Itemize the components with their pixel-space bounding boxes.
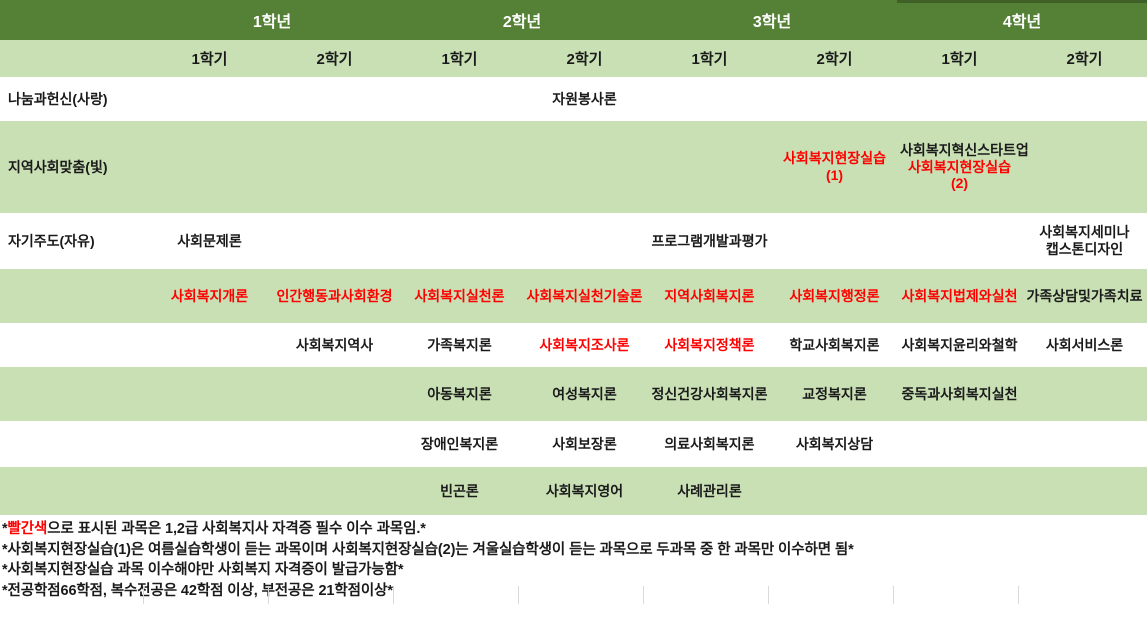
year-header-row: 1학년 2학년 3학년 4학년: [0, 0, 1147, 40]
course-name: 사회보장론: [525, 436, 644, 453]
course-name: 학교사회복지론: [775, 337, 894, 354]
course-cell: [1022, 467, 1147, 515]
row-label: [0, 269, 147, 323]
course-cell: [272, 367, 397, 421]
course-cell[interactable]: 사회복지정책론: [647, 323, 772, 367]
course-cell[interactable]: 사회복지세미나캡스톤디자인: [1022, 213, 1147, 269]
course-cell: [397, 121, 522, 213]
year-header-1: 1학년: [147, 0, 397, 40]
semester-corner-cell: [0, 40, 147, 77]
course-name: 빈곤론: [400, 483, 519, 500]
table-header: 1학년 2학년 3학년 4학년 1학기 2학기 1학기 2학기 1학기 2학기 …: [0, 0, 1147, 77]
course-cell[interactable]: 사회보장론: [522, 421, 647, 467]
course-name: 사회서비스론: [1025, 337, 1144, 354]
table-row: 장애인복지론사회보장론의료사회복지론사회복지상담: [0, 421, 1147, 467]
row-label: 자기주도(자유): [0, 213, 147, 269]
course-cell[interactable]: 가족복지론: [397, 323, 522, 367]
semester-header-2: 2학기: [272, 40, 397, 77]
semester-header-row: 1학기 2학기 1학기 2학기 1학기 2학기 1학기 2학기: [0, 40, 1147, 77]
course-name: 사회복지개론: [150, 288, 269, 305]
course-name: 사회복지세미나: [1025, 224, 1144, 241]
row-label: [0, 467, 147, 515]
course-cell: [1022, 77, 1147, 121]
course-cell: [897, 467, 1022, 515]
note-line-3: *사회복지현장실습 과목 이수해야만 사회복지 자격증이 발급가능함*: [2, 560, 1147, 581]
course-cell[interactable]: 정신건강사회복지론: [647, 367, 772, 421]
course-name: 자원봉사론: [525, 91, 644, 108]
row-label: [0, 367, 147, 421]
row-label: 나눔과헌신(사랑): [0, 77, 147, 121]
course-cell: [1022, 421, 1147, 467]
semester-header-6: 2학기: [772, 40, 897, 77]
course-cell: [772, 213, 897, 269]
course-name: 사회복지행정론: [775, 288, 894, 305]
course-name: 사회문제론: [150, 233, 269, 250]
semester-header-5: 1학기: [647, 40, 772, 77]
course-name: 캡스톤디자인: [1025, 241, 1144, 258]
note-1-highlight: 빨간색: [8, 521, 48, 537]
course-cell: [397, 213, 522, 269]
course-cell: [522, 213, 647, 269]
course-name: 사회복지실천기술론: [525, 288, 644, 305]
row-label: 지역사회맞춤(빛): [0, 121, 147, 213]
course-cell: [147, 77, 272, 121]
course-name: 아동복지론: [400, 386, 519, 403]
row-label: [0, 421, 147, 467]
course-cell[interactable]: 장애인복지론: [397, 421, 522, 467]
semester-header-8: 2학기: [1022, 40, 1147, 77]
course-cell: [147, 323, 272, 367]
course-cell: [1022, 367, 1147, 421]
course-cell: [897, 421, 1022, 467]
course-cell[interactable]: 사회복지역사: [272, 323, 397, 367]
notes-block: *빨간색으로 표시된 과목은 1,2급 사회복지사 자격증 필수 이수 과목임.…: [0, 515, 1147, 601]
course-name: 프로그램개발과평가: [650, 233, 769, 250]
course-name: 정신건강사회복지론: [650, 386, 769, 403]
course-cell: [397, 77, 522, 121]
course-name: 장애인복지론: [400, 436, 519, 453]
course-cell[interactable]: 사회복지법제와실천: [897, 269, 1022, 323]
table-row: 빈곤론사회복지영어사례관리론: [0, 467, 1147, 515]
course-name: 지역사회복지론: [650, 288, 769, 305]
course-cell: [147, 467, 272, 515]
course-cell: [772, 467, 897, 515]
course-cell[interactable]: 사례관리론: [647, 467, 772, 515]
table-body: 나눔과헌신(사랑)자원봉사론지역사회맞춤(빛)사회복지현장실습(1)사회복지혁신…: [0, 77, 1147, 515]
year-header-2: 2학년: [397, 0, 647, 40]
course-cell[interactable]: 프로그램개발과평가: [647, 213, 772, 269]
course-cell: [272, 213, 397, 269]
course-cell[interactable]: 인간행동과사회환경: [272, 269, 397, 323]
course-cell[interactable]: 사회복지실천론: [397, 269, 522, 323]
note-line-4: *전공학점66학점, 복수전공은 42학점 이상, 부전공은 21학점이상*: [2, 581, 1147, 602]
table-row: 사회복지개론인간행동과사회환경사회복지실천론사회복지실천기술론지역사회복지론사회…: [0, 269, 1147, 323]
semester-header-7: 1학기: [897, 40, 1022, 77]
course-cell: [147, 121, 272, 213]
course-cell[interactable]: 아동복지론: [397, 367, 522, 421]
course-cell: [647, 77, 772, 121]
course-name: 사회복지혁신스타트업: [900, 142, 1019, 159]
course-cell[interactable]: 사회복지현장실습(1): [772, 121, 897, 213]
course-cell: [522, 121, 647, 213]
course-cell[interactable]: 중독과사회복지실천: [897, 367, 1022, 421]
course-cell: [897, 213, 1022, 269]
course-cell[interactable]: 사회복지실천기술론: [522, 269, 647, 323]
course-cell[interactable]: 지역사회복지론: [647, 269, 772, 323]
curriculum-sheet: 1학년 2학년 3학년 4학년 1학기 2학기 1학기 2학기 1학기 2학기 …: [0, 0, 1147, 619]
course-name: 의료사회복지론: [650, 436, 769, 453]
course-cell[interactable]: 교정복지론: [772, 367, 897, 421]
semester-header-3: 1학기: [397, 40, 522, 77]
note-line-2: *사회복지현장실습(1)은 여름실습학생이 듣는 과목이며 사회복지현장실습(2…: [2, 540, 1147, 561]
course-name: 가족상담및가족치료: [1025, 288, 1144, 305]
course-name: 인간행동과사회환경: [275, 288, 394, 305]
course-cell: [272, 77, 397, 121]
row-label: [0, 323, 147, 367]
course-cell: [147, 367, 272, 421]
course-cell: [272, 467, 397, 515]
course-cell: [897, 77, 1022, 121]
table-row: 지역사회맞춤(빛)사회복지현장실습(1)사회복지혁신스타트업사회복지현장실습(2…: [0, 121, 1147, 213]
course-cell[interactable]: 사회복지개론: [147, 269, 272, 323]
table-row: 사회복지역사가족복지론사회복지조사론사회복지정책론학교사회복지론사회복지윤리와철…: [0, 323, 1147, 367]
table-row: 나눔과헌신(사랑)자원봉사론: [0, 77, 1147, 121]
course-cell[interactable]: 사회복지조사론: [522, 323, 647, 367]
course-name: 사회복지현장실습(1): [775, 150, 894, 183]
course-cell: [272, 421, 397, 467]
course-cell[interactable]: 자원봉사론: [522, 77, 647, 121]
curriculum-table: 1학년 2학년 3학년 4학년 1학기 2학기 1학기 2학기 1학기 2학기 …: [0, 0, 1147, 515]
course-cell[interactable]: 학교사회복지론: [772, 323, 897, 367]
course-cell[interactable]: 사회복지혁신스타트업사회복지현장실습(2): [897, 121, 1022, 213]
course-cell: [647, 121, 772, 213]
corner-cell: [0, 0, 147, 40]
course-cell[interactable]: 사회문제론: [147, 213, 272, 269]
course-name: 사회복지실천론: [400, 288, 519, 305]
course-cell[interactable]: 사회복지행정론: [772, 269, 897, 323]
year-header-4: 4학년: [897, 0, 1147, 40]
course-cell[interactable]: 빈곤론: [397, 467, 522, 515]
course-cell[interactable]: 의료사회복지론: [647, 421, 772, 467]
table-row: 자기주도(자유)사회문제론프로그램개발과평가사회복지세미나캡스톤디자인: [0, 213, 1147, 269]
semester-header-4: 2학기: [522, 40, 647, 77]
table-row: 아동복지론여성복지론정신건강사회복지론교정복지론중독과사회복지실천: [0, 367, 1147, 421]
course-name: 여성복지론: [525, 386, 644, 403]
course-name: 사례관리론: [650, 483, 769, 500]
course-cell: [1022, 121, 1147, 213]
course-name: 교정복지론: [775, 386, 894, 403]
course-name: 사회복지법제와실천: [900, 288, 1019, 305]
semester-header-1: 1학기: [147, 40, 272, 77]
course-cell: [147, 421, 272, 467]
note-line-1: *빨간색으로 표시된 과목은 1,2급 사회복지사 자격증 필수 이수 과목임.…: [2, 519, 1147, 540]
course-cell[interactable]: 사회복지영어: [522, 467, 647, 515]
note-1-suffix: 으로 표시된 과목은 1,2급 사회복지사 자격증 필수 이수 과목임.*: [47, 521, 426, 537]
course-name: 사회복지현장실습(2): [900, 159, 1019, 192]
course-cell[interactable]: 여성복지론: [522, 367, 647, 421]
course-cell: [772, 77, 897, 121]
course-name: 가족복지론: [400, 337, 519, 354]
course-cell[interactable]: 사회서비스론: [1022, 323, 1147, 367]
course-cell[interactable]: 사회복지윤리와철학: [897, 323, 1022, 367]
course-name: 사회복지정책론: [650, 337, 769, 354]
course-cell[interactable]: 가족상담및가족치료: [1022, 269, 1147, 323]
course-name: 사회복지윤리와철학: [900, 337, 1019, 354]
course-cell[interactable]: 사회복지상담: [772, 421, 897, 467]
course-name: 사회복지상담: [775, 436, 894, 453]
course-name: 사회복지영어: [525, 483, 644, 500]
course-name: 사회복지조사론: [525, 337, 644, 354]
course-name: 중독과사회복지실천: [900, 386, 1019, 403]
course-cell: [272, 121, 397, 213]
course-name: 사회복지역사: [275, 337, 394, 354]
year-header-3: 3학년: [647, 0, 897, 40]
